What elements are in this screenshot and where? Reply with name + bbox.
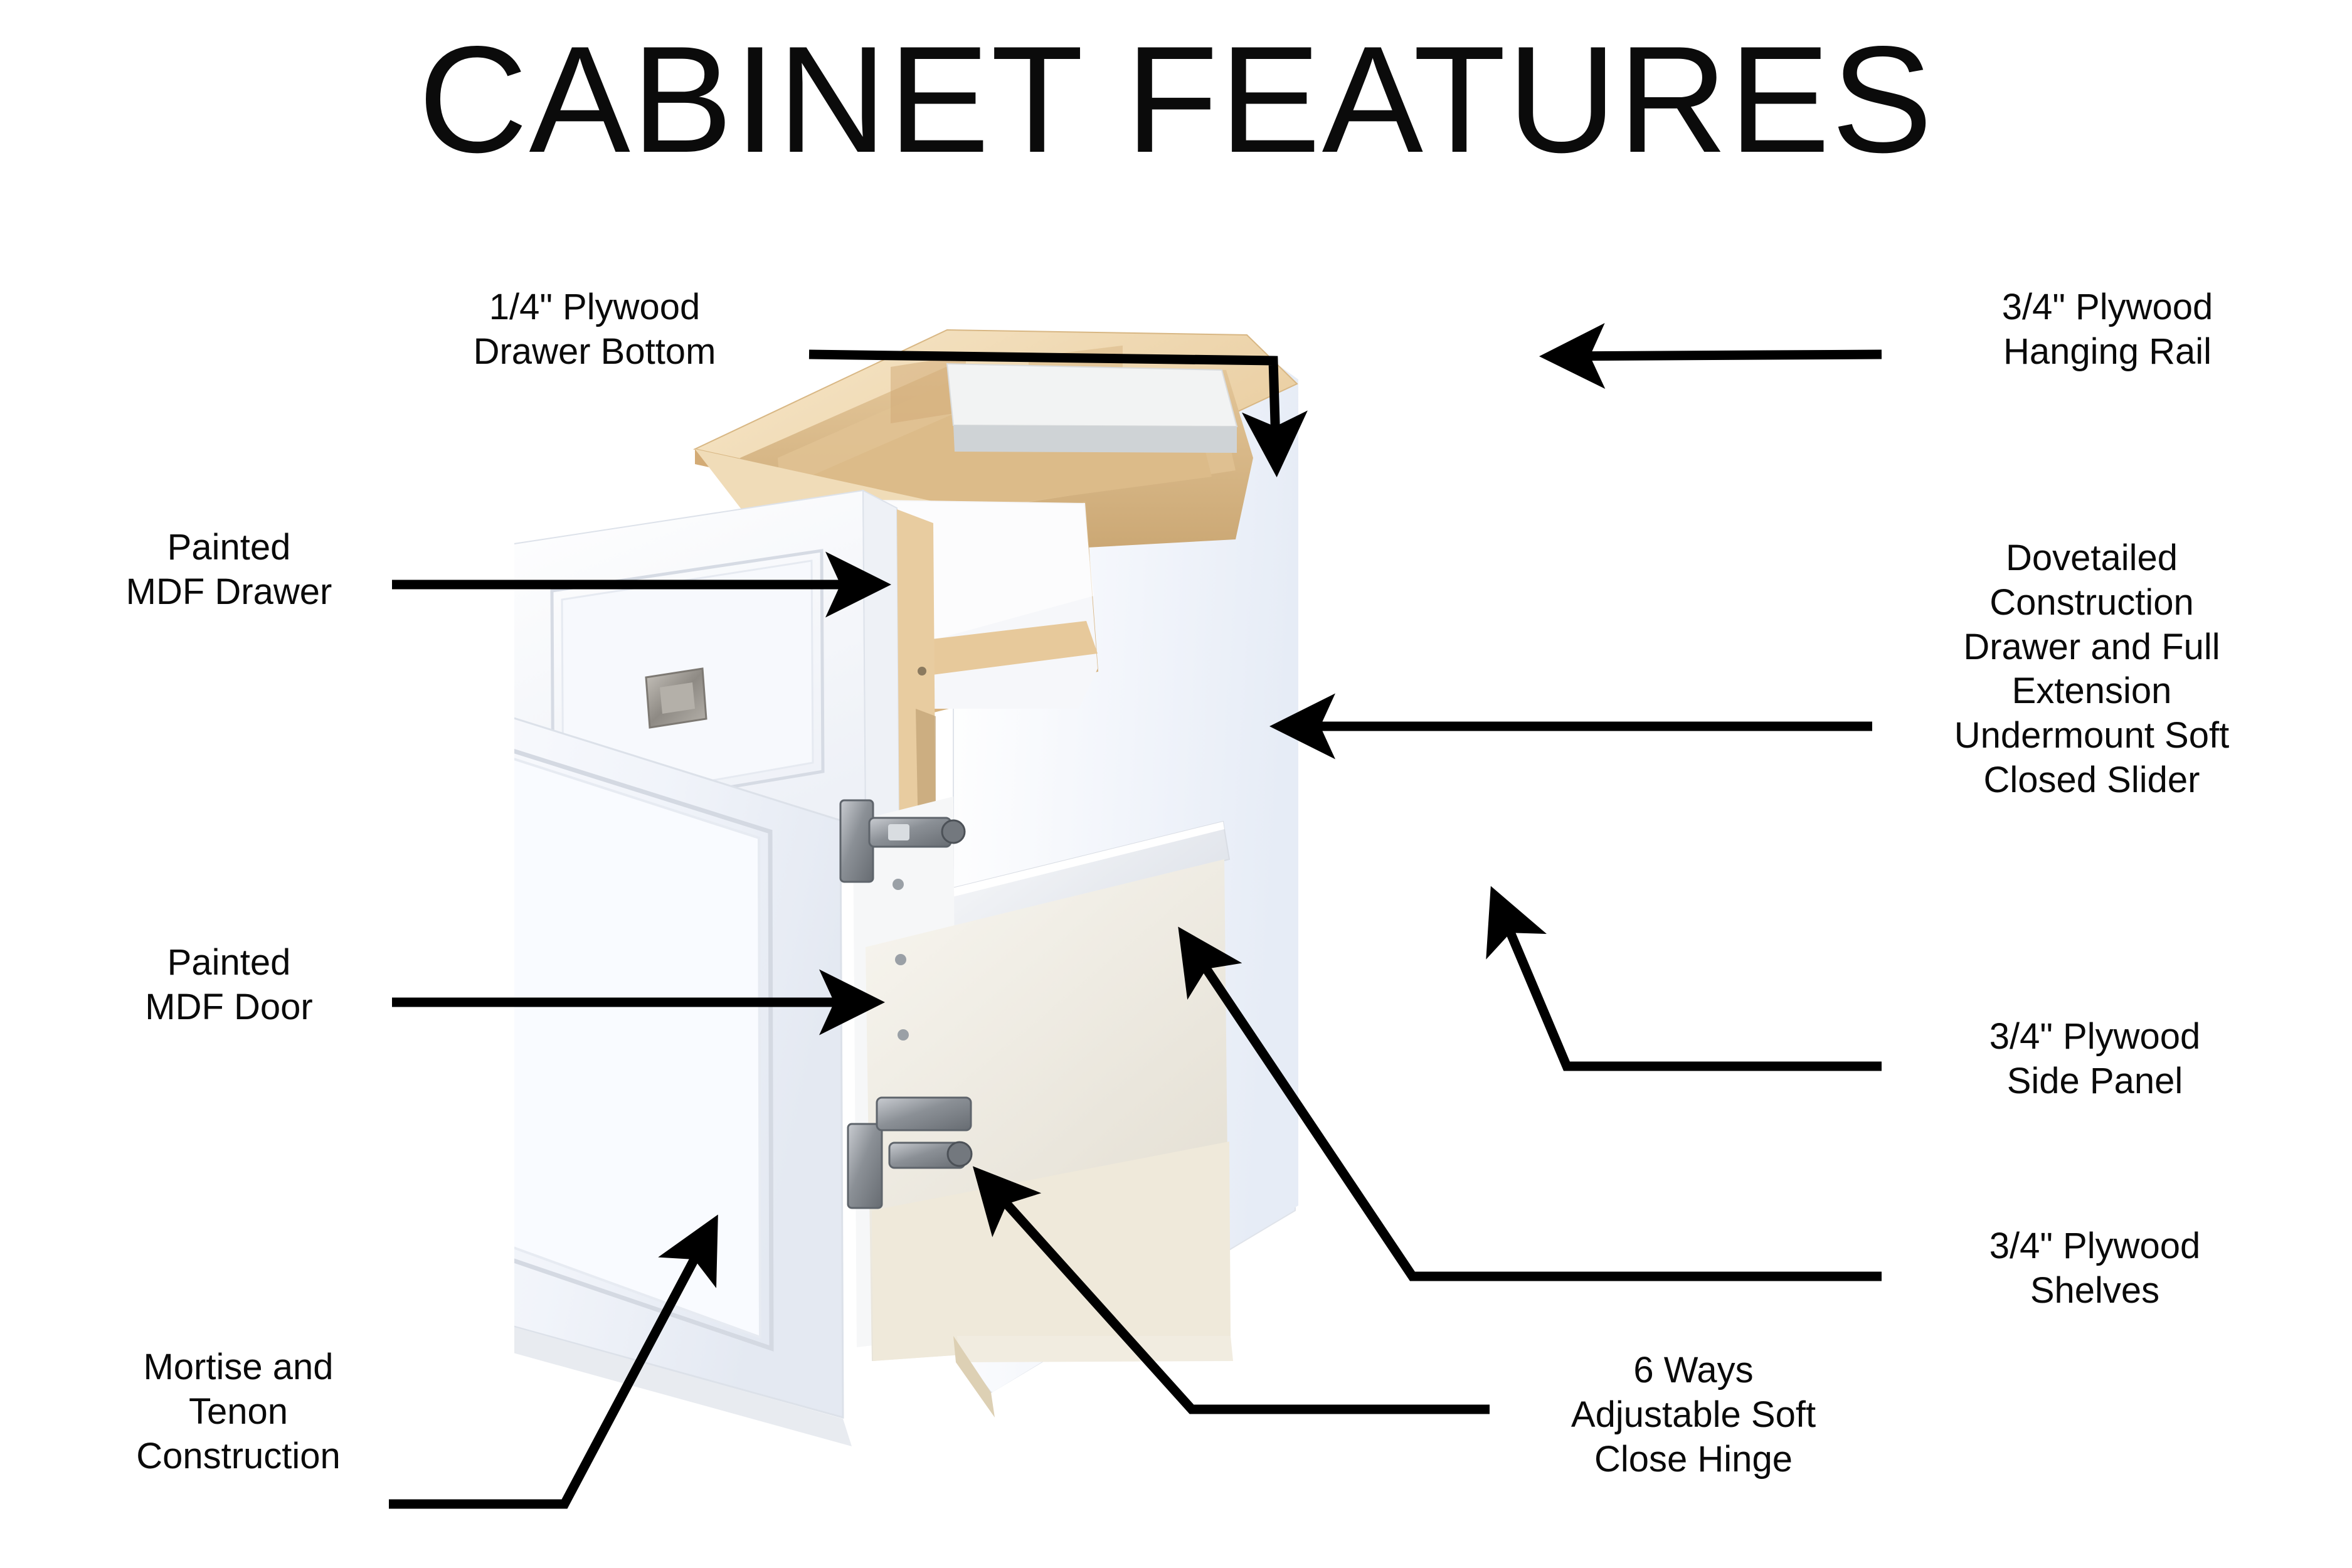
cabinet-bottom-front [957,1336,1233,1362]
cabinet-photo [514,270,1618,1518]
door-shaker-panel [514,739,760,1337]
callout-soft-close-hinge: 6 Ways Adjustable Soft Close Hinge [1493,1348,1894,1481]
drawer-screw-hole [918,667,926,675]
callout-mortise-tenon: Mortise and Tenon Construction [44,1345,433,1478]
drawer-front-edge [863,490,899,834]
page-title: CABINET FEATURES [0,24,2352,176]
poster-canvas: CABINET FEATURES [0,0,2352,1568]
hanging-rail [947,364,1237,426]
callout-shelves: 3/4" Plywood Shelves [1888,1224,2302,1313]
cabinet-body-svg [514,270,1618,1518]
hanging-rail-shadow [953,425,1237,453]
callout-hanging-rail: 3/4" Plywood Hanging Rail [1900,285,2314,374]
callout-side-panel: 3/4" Plywood Side Panel [1888,1015,2302,1104]
callout-drawer-bottom: 1/4" Plywood Drawer Bottom [388,285,802,374]
callout-painted-mdf-drawer: Painted MDF Drawer [38,526,420,615]
callout-dovetail-slider: Dovetailed Construction Drawer and Full … [1872,536,2311,803]
callout-painted-mdf-door: Painted MDF Door [38,941,420,1030]
drawer-knob-facet [660,682,695,714]
shelf-pin-hole [895,954,906,965]
shelf-pin-hole [898,1029,909,1041]
shelf-pin-hole [893,879,904,890]
